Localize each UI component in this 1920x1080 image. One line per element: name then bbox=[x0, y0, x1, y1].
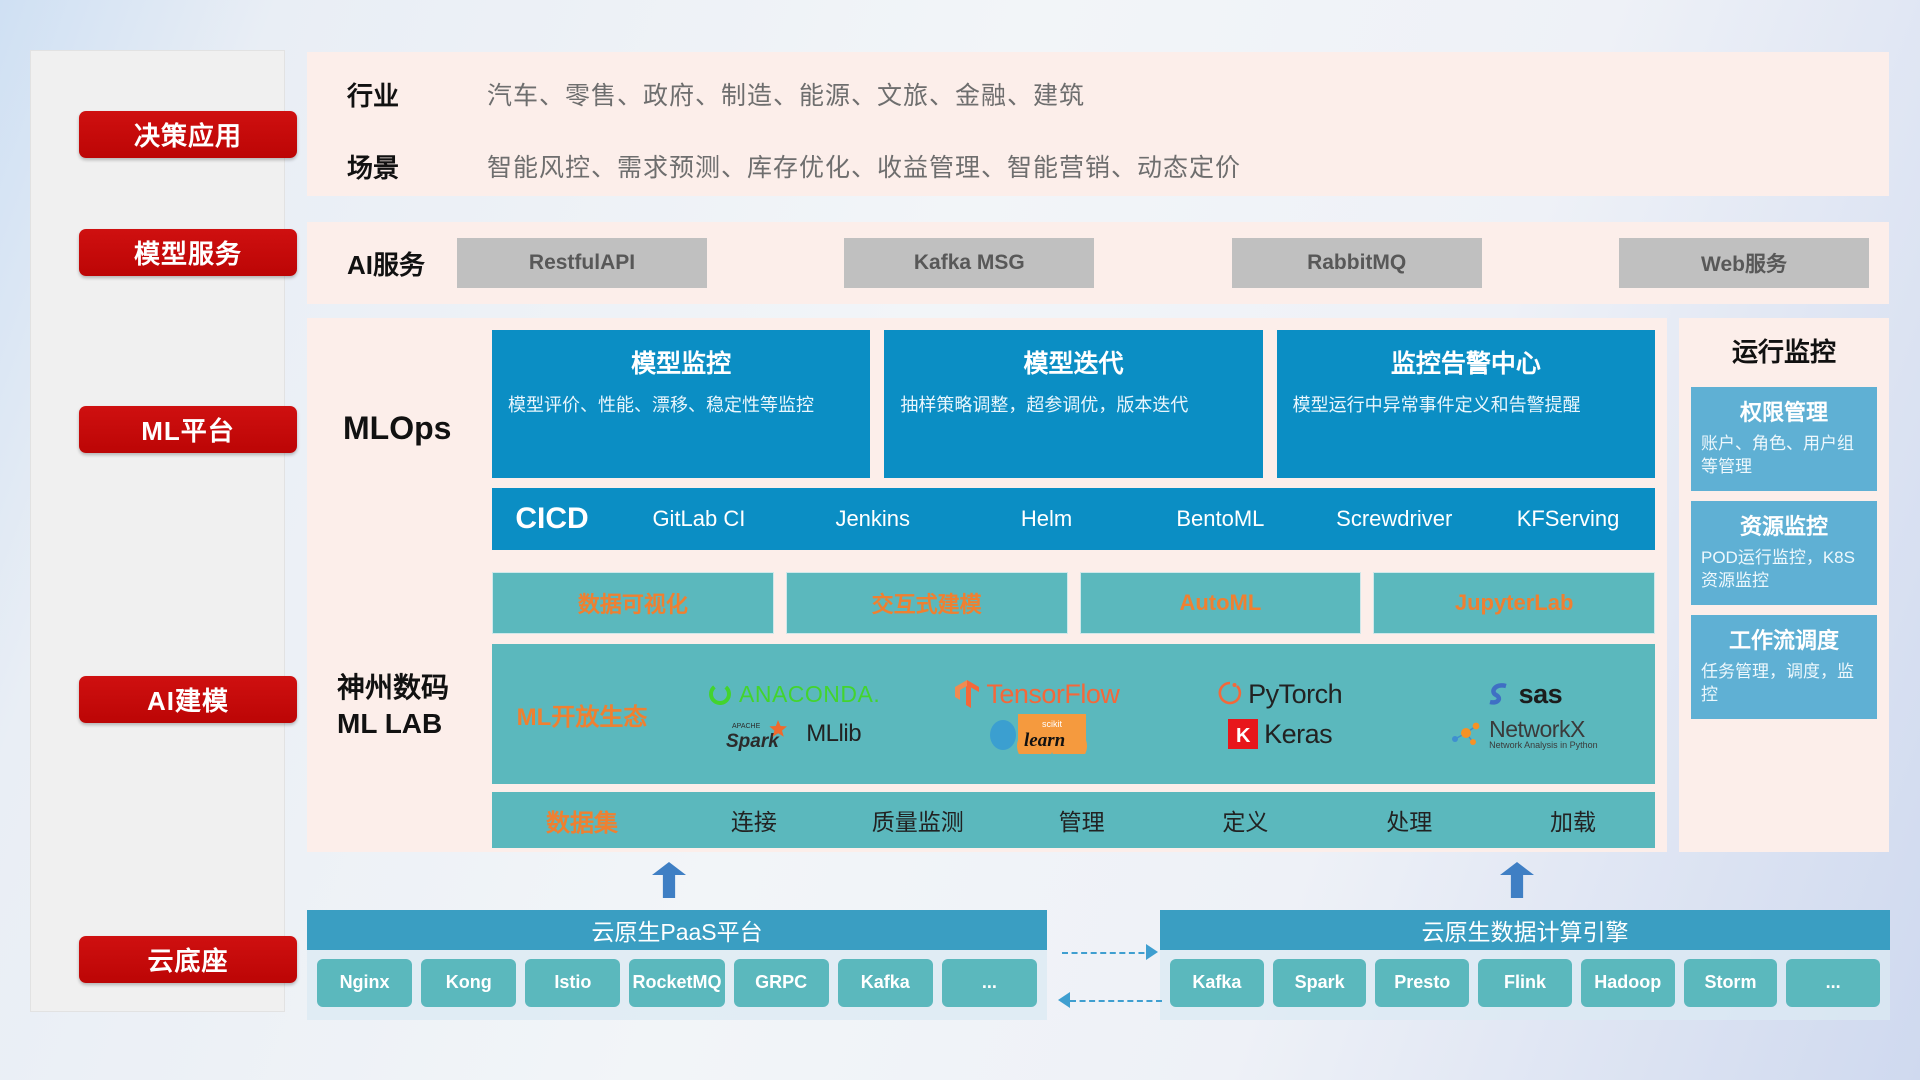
card-title: 资源监控 bbox=[1701, 509, 1867, 541]
ml-ecosystem-band: ML开放生态 ANACONDA. TensorFlow bbox=[492, 644, 1655, 784]
arrow-up-paas bbox=[652, 862, 686, 898]
anaconda-logo: ANACONDA. bbox=[707, 681, 880, 708]
keras-logo: K Keras bbox=[1228, 719, 1332, 750]
modeling-tools: 数据可视化 交互式建模 AutoML JupyterLab bbox=[492, 572, 1655, 634]
cicd-item-screwdriver[interactable]: Screwdriver bbox=[1307, 507, 1481, 530]
networkx-text: NetworkX bbox=[1489, 718, 1598, 741]
dashed-line-right bbox=[1062, 952, 1154, 954]
keras-icon: K bbox=[1228, 719, 1258, 749]
rail-label: 云底座 bbox=[147, 941, 228, 978]
tensorflow-text: TensorFlow bbox=[986, 679, 1119, 710]
ml-ecosystem-label: ML开放生态 bbox=[492, 697, 672, 732]
chip-istio[interactable]: Istio bbox=[525, 959, 620, 1007]
card-desc: POD运行监控，K8S资源监控 bbox=[1701, 547, 1867, 593]
pytorch-icon bbox=[1218, 680, 1242, 708]
ai-modeling-panel: 神州数码 ML LAB 数据可视化 交互式建模 AutoML JupyterLa… bbox=[307, 560, 1667, 852]
scikit-learn-logo: scikit learn bbox=[986, 714, 1088, 754]
cicd-item-bentoml[interactable]: BentoML bbox=[1133, 507, 1307, 530]
pytorch-text: PyTorch bbox=[1248, 679, 1342, 710]
anaconda-icon bbox=[707, 681, 733, 707]
chip-kafka[interactable]: Kafka bbox=[838, 959, 933, 1007]
mlops-panel: MLOps 模型监控 模型评价、性能、漂移、稳定性等监控 模型迭代 抽样策略调整… bbox=[307, 318, 1667, 560]
networkx-icon bbox=[1449, 719, 1483, 749]
svg-text:Spark: Spark bbox=[726, 731, 780, 751]
chip-spark[interactable]: Spark bbox=[1273, 959, 1367, 1007]
cloud-engine-block: 云原生数据计算引擎 Kafka Spark Presto Flink Hadoo… bbox=[1160, 910, 1890, 1020]
cloud-engine-title: 云原生数据计算引擎 bbox=[1160, 910, 1890, 950]
keras-text: Keras bbox=[1264, 719, 1332, 750]
monitoring-card-permission[interactable]: 权限管理 账户、角色、用户组等管理 bbox=[1691, 387, 1877, 491]
chip-kafka[interactable]: Kafka bbox=[1170, 959, 1264, 1007]
ai-service-items: RestfulAPI Kafka MSG RabbitMQ Web服务 bbox=[447, 238, 1889, 288]
tensorflow-icon bbox=[954, 679, 980, 709]
rail-item-ml-platform[interactable]: ML平台 bbox=[79, 406, 297, 453]
card-title: 模型迭代 bbox=[900, 344, 1246, 380]
networkx-logo: NetworkX Network Analysis in Python bbox=[1449, 718, 1598, 750]
chip-flink[interactable]: Flink bbox=[1478, 959, 1572, 1007]
ai-service-label: AI服务 bbox=[307, 245, 447, 282]
mllib-text: MLlib bbox=[806, 720, 861, 748]
svg-text:learn: learn bbox=[1024, 730, 1065, 751]
sas-text: sas bbox=[1519, 679, 1563, 710]
chip-storm[interactable]: Storm bbox=[1684, 959, 1778, 1007]
rail-label: AI建模 bbox=[147, 681, 229, 718]
cicd-title: CICD bbox=[492, 502, 612, 536]
card-title: 模型监控 bbox=[508, 344, 854, 380]
ml-ecosystem-logos: ANACONDA. TensorFlow PyTorch bbox=[672, 674, 1655, 754]
cloud-paas-block: 云原生PaaS平台 Nginx Kong Istio RocketMQ GRPC… bbox=[307, 910, 1047, 1020]
industry-label: 行业 bbox=[307, 76, 487, 113]
ai-service-chip[interactable]: Web服务 bbox=[1619, 238, 1869, 288]
scikit-learn-icon: scikit learn bbox=[1016, 714, 1088, 754]
pytorch-logo: PyTorch bbox=[1218, 679, 1342, 710]
industry-row: 行业 汽车、零售、政府、制造、能源、文旅、金融、建筑 bbox=[307, 58, 1889, 130]
ai-service-chip[interactable]: RestfulAPI bbox=[457, 238, 707, 288]
rail-item-model-service[interactable]: 模型服务 bbox=[79, 229, 297, 276]
dataset-bar: 数据集 连接 质量监测 管理 定义 处理 加载 bbox=[492, 792, 1655, 848]
cicd-item-gitlab[interactable]: GitLab CI bbox=[612, 507, 786, 530]
dashed-arrow-right bbox=[1146, 944, 1158, 960]
dataset-item-connect[interactable]: 连接 bbox=[672, 803, 836, 837]
card-desc: 模型评价、性能、漂移、稳定性等监控 bbox=[508, 392, 854, 418]
chip-hadoop[interactable]: Hadoop bbox=[1581, 959, 1675, 1007]
dataset-item-define[interactable]: 定义 bbox=[1163, 803, 1327, 837]
mlops-card-alert-center[interactable]: 监控告警中心 模型运行中异常事件定义和告警提醒 bbox=[1277, 330, 1655, 478]
tensorflow-logo: TensorFlow bbox=[954, 679, 1119, 710]
ai-modeling-label: 神州数码 ML LAB bbox=[337, 670, 487, 742]
monitoring-card-workflow[interactable]: 工作流调度 任务管理，调度，监控 bbox=[1691, 615, 1877, 719]
anaconda-text: ANACONDA. bbox=[739, 681, 880, 708]
industry-value: 汽车、零售、政府、制造、能源、文旅、金融、建筑 bbox=[487, 76, 1085, 112]
tool-data-visualization[interactable]: 数据可视化 bbox=[492, 572, 774, 634]
card-desc: 任务管理，调度，监控 bbox=[1701, 661, 1867, 707]
scene-label: 场景 bbox=[307, 148, 487, 185]
rail-item-decision-app[interactable]: 决策应用 bbox=[79, 111, 297, 158]
tool-automl[interactable]: AutoML bbox=[1080, 572, 1362, 634]
chip-nginx[interactable]: Nginx bbox=[317, 959, 412, 1007]
ai-service-chip[interactable]: Kafka MSG bbox=[844, 238, 1094, 288]
ai-service-chip[interactable]: RabbitMQ bbox=[1232, 238, 1482, 288]
rail-label: 决策应用 bbox=[134, 116, 242, 153]
ai-modeling-label-line1: 神州数码 bbox=[337, 670, 487, 706]
svg-text:K: K bbox=[1236, 725, 1251, 747]
rail-label: ML平台 bbox=[141, 411, 235, 448]
dataset-item-quality[interactable]: 质量监测 bbox=[836, 803, 1000, 837]
scikit-blue-blob-icon bbox=[986, 717, 1020, 751]
spark-mllib-logo: APACHE Spark MLlib bbox=[726, 717, 861, 751]
ai-modeling-label-line2: ML LAB bbox=[337, 706, 487, 742]
mlops-label: MLOps bbox=[343, 410, 451, 447]
chip-presto[interactable]: Presto bbox=[1375, 959, 1469, 1007]
cicd-item-kfserving[interactable]: KFServing bbox=[1481, 507, 1655, 530]
cloud-engine-chips: Kafka Spark Presto Flink Hadoop Storm ..… bbox=[1160, 950, 1890, 1016]
rail-item-ai-modeling[interactable]: AI建模 bbox=[79, 676, 297, 723]
cicd-bar: CICD GitLab CI Jenkins Helm BentoML Scre… bbox=[492, 488, 1655, 550]
cicd-item-helm[interactable]: Helm bbox=[960, 507, 1134, 530]
arrow-up-engine bbox=[1500, 862, 1534, 898]
dataset-item-manage[interactable]: 管理 bbox=[1000, 803, 1164, 837]
scene-value: 智能风控、需求预测、库存优化、收益管理、智能营销、动态定价 bbox=[487, 148, 1241, 184]
scene-row: 场景 智能风控、需求预测、库存优化、收益管理、智能营销、动态定价 bbox=[307, 130, 1889, 202]
industry-scene-panel: 行业 汽车、零售、政府、制造、能源、文旅、金融、建筑 场景 智能风控、需求预测、… bbox=[307, 52, 1889, 196]
chip-grpc[interactable]: GRPC bbox=[734, 959, 829, 1007]
tool-interactive-modeling[interactable]: 交互式建模 bbox=[786, 572, 1068, 634]
card-title: 权限管理 bbox=[1701, 395, 1867, 427]
svg-text:scikit: scikit bbox=[1042, 719, 1062, 729]
monitoring-panel: 运行监控 权限管理 账户、角色、用户组等管理 资源监控 POD运行监控，K8S资… bbox=[1679, 318, 1889, 852]
chip-rocketmq[interactable]: RocketMQ bbox=[629, 959, 724, 1007]
monitoring-title: 运行监控 bbox=[1679, 318, 1889, 377]
layer-rail: 决策应用 模型服务 ML平台 AI建模 云底座 bbox=[30, 50, 285, 1012]
networkx-wordmark: NetworkX Network Analysis in Python bbox=[1489, 718, 1598, 750]
spark-icon: APACHE Spark bbox=[726, 717, 800, 751]
card-desc: 账户、角色、用户组等管理 bbox=[1701, 433, 1867, 479]
card-title: 工作流调度 bbox=[1701, 623, 1867, 655]
mlops-card-model-monitor[interactable]: 模型监控 模型评价、性能、漂移、稳定性等监控 bbox=[492, 330, 870, 478]
card-title: 监控告警中心 bbox=[1293, 344, 1639, 380]
dataset-item-load[interactable]: 加载 bbox=[1491, 803, 1655, 837]
cloud-paas-chips: Nginx Kong Istio RocketMQ GRPC Kafka ... bbox=[307, 950, 1047, 1016]
chip-more[interactable]: ... bbox=[942, 959, 1037, 1007]
mlops-card-model-iteration[interactable]: 模型迭代 抽样策略调整，超参调优，版本迭代 bbox=[884, 330, 1262, 478]
sas-icon bbox=[1485, 680, 1513, 708]
svg-text:APACHE: APACHE bbox=[732, 723, 761, 730]
chip-kong[interactable]: Kong bbox=[421, 959, 516, 1007]
networkx-subtitle: Network Analysis in Python bbox=[1489, 741, 1598, 750]
tool-jupyterlab[interactable]: JupyterLab bbox=[1373, 572, 1655, 634]
card-desc: 抽样策略调整，超参调优，版本迭代 bbox=[900, 392, 1246, 418]
rail-label: 模型服务 bbox=[134, 234, 242, 271]
dataset-label: 数据集 bbox=[492, 803, 672, 838]
dataset-item-process[interactable]: 处理 bbox=[1327, 803, 1491, 837]
diagram-canvas: 决策应用 模型服务 ML平台 AI建模 云底座 行业 汽车、零售、政府、制造、能… bbox=[0, 0, 1920, 1080]
mlops-cards: 模型监控 模型评价、性能、漂移、稳定性等监控 模型迭代 抽样策略调整，超参调优，… bbox=[492, 330, 1655, 478]
sas-logo: sas bbox=[1485, 679, 1563, 710]
chip-more[interactable]: ... bbox=[1786, 959, 1880, 1007]
ai-service-panel: AI服务 RestfulAPI Kafka MSG RabbitMQ Web服务 bbox=[307, 222, 1889, 304]
dashed-arrow-left bbox=[1058, 992, 1070, 1008]
cicd-item-jenkins[interactable]: Jenkins bbox=[786, 507, 960, 530]
rail-item-cloud-base[interactable]: 云底座 bbox=[79, 936, 297, 983]
cloud-paas-title: 云原生PaaS平台 bbox=[307, 910, 1047, 950]
monitoring-card-resource[interactable]: 资源监控 POD运行监控，K8S资源监控 bbox=[1691, 501, 1877, 605]
dashed-line-left bbox=[1070, 1000, 1162, 1002]
card-desc: 模型运行中异常事件定义和告警提醒 bbox=[1293, 392, 1639, 418]
